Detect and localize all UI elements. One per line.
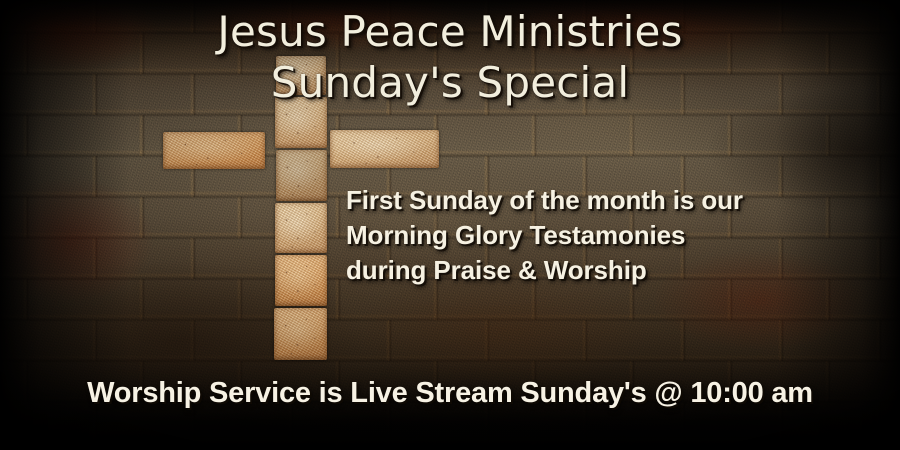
announcement-text: First Sunday of the month is our Morning… [346,183,743,288]
body-line-1: First Sunday of the month is our [346,183,743,218]
body-line-2: Morning Glory Testamonies [346,218,743,253]
title-line-1: Jesus Peace Ministries [0,6,900,57]
livestream-notice: Worship Service is Live Stream Sunday's … [0,375,900,411]
footer-text: Worship Service is Live Stream Sunday's … [0,375,900,411]
page-title: Jesus Peace Ministries Sunday's Special [0,6,900,108]
title-line-2: Sunday's Special [0,57,900,108]
poster-canvas: Jesus Peace Ministries Sunday's Special … [0,0,900,450]
body-line-3: during Praise & Worship [346,253,743,288]
